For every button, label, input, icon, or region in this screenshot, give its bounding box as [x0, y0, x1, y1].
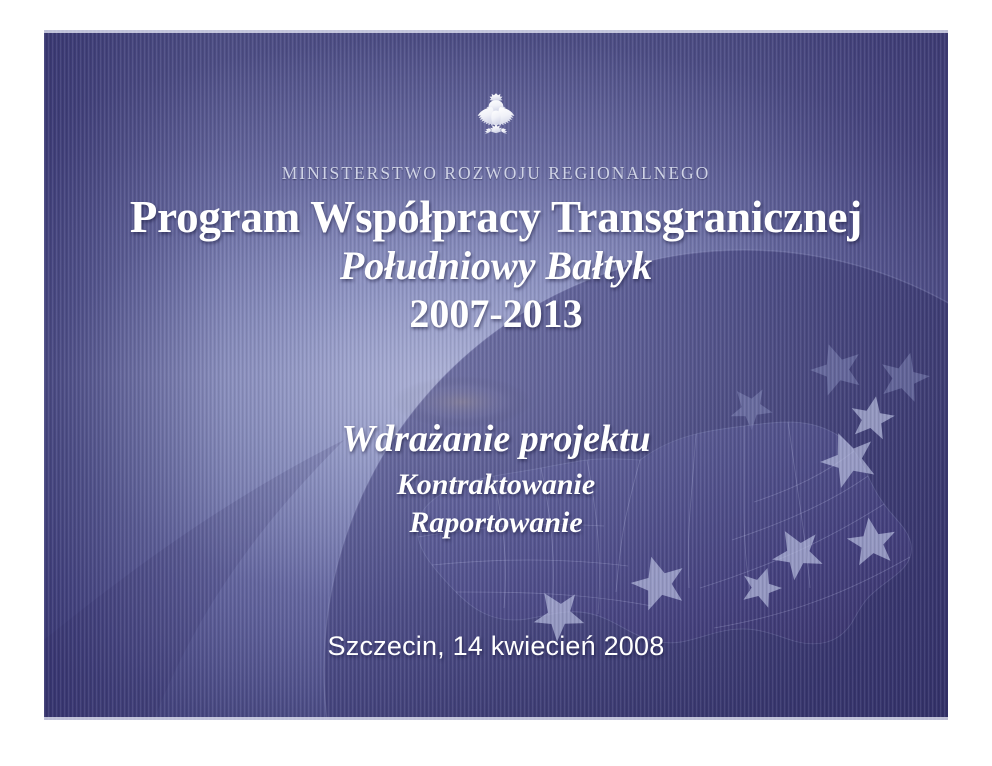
presentation-slide: MINISTERSTWO ROZWOJU REGIONALNEGO Progra…: [44, 30, 948, 720]
slide-content: MINISTERSTWO ROZWOJU REGIONALNEGO Progra…: [44, 30, 948, 720]
page: MINISTERSTWO ROZWOJU REGIONALNEGO Progra…: [0, 0, 992, 766]
page-title-line-2: Południowy Bałtyk: [44, 244, 948, 288]
page-title-line-3: 2007-2013: [44, 292, 948, 336]
subtitle-line-2: Kontraktowanie: [44, 468, 948, 502]
ministry-name: MINISTERSTWO ROZWOJU REGIONALNEGO: [44, 163, 948, 184]
slide-footer-location-date: Szczecin, 14 kwiecień 2008: [44, 631, 948, 662]
slide-title-block: Program Współpracy Transgranicznej Połud…: [44, 193, 948, 335]
slide-subtitle-block: Wdrażanie projektu Kontraktowanie Raport…: [44, 418, 948, 540]
subtitle-line-1: Wdrażanie projektu: [44, 418, 948, 461]
subtitle-line-3: Raportowanie: [44, 506, 948, 540]
page-title-line-1: Program Współpracy Transgranicznej: [44, 193, 948, 242]
polish-eagle-emblem-icon: [44, 88, 948, 148]
